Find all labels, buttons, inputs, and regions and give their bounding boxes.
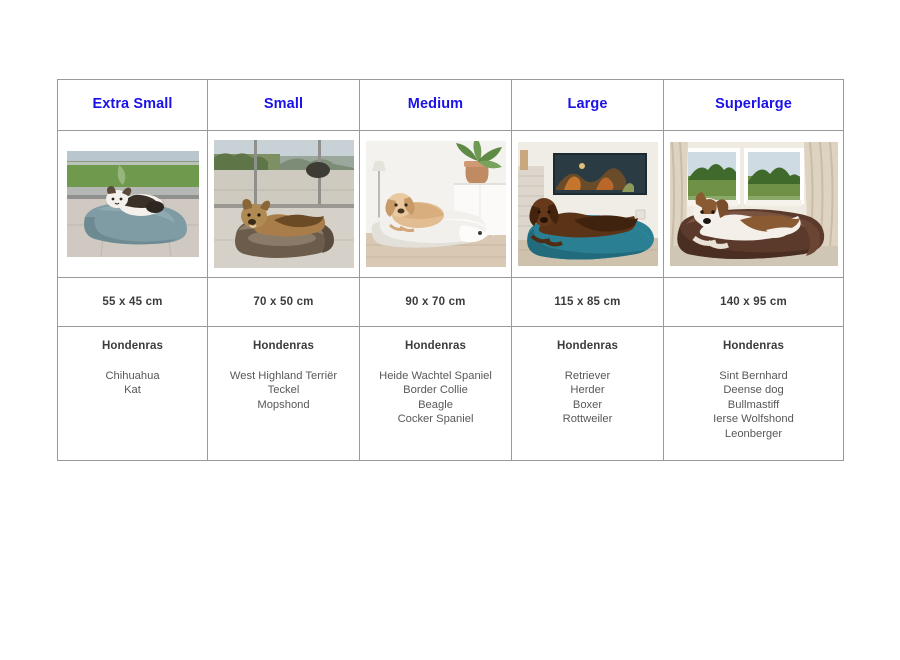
breed-item: Sint Bernhard (664, 369, 843, 384)
breed-block: Hondenras West Highland TerriërTeckelMop… (208, 327, 359, 412)
breed-list: West Highland TerriërTeckelMopshond (208, 369, 359, 413)
breed-item: Retriever (512, 369, 663, 384)
header-cell-extra-small: Extra Small (58, 80, 208, 131)
image-wrapper (664, 131, 843, 277)
dog-bed-photo-large (518, 142, 658, 266)
breed-item: Cocker Spaniel (360, 412, 511, 427)
breed-title: Hondenras (360, 341, 511, 353)
header-cell-large: Large (512, 80, 664, 131)
breed-item: Boxer (512, 398, 663, 413)
breeds-cell-large: Hondenras RetrieverHerderBoxerRottweiler (512, 327, 664, 461)
breed-block: Hondenras ChihuahuaKat (58, 327, 207, 398)
breed-item: Herder (512, 383, 663, 398)
breed-block: Hondenras Sint BernhardDeense dogBullmas… (664, 327, 843, 441)
breed-item: Rottweiler (512, 412, 663, 427)
breed-item: Kat (58, 383, 207, 398)
breed-item: Chihuahua (58, 369, 207, 384)
breed-item: Border Collie (360, 383, 511, 398)
image-cell-extra-small (58, 131, 208, 278)
breed-block: Hondenras RetrieverHerderBoxerRottweiler (512, 327, 663, 427)
breed-list: RetrieverHerderBoxerRottweiler (512, 369, 663, 427)
breed-item: Teckel (208, 383, 359, 398)
breed-item: Deense dog (664, 383, 843, 398)
dog-bed-photo-superlarge (670, 142, 838, 266)
page-root: Extra Small Small Medium Large Superlarg… (0, 0, 900, 660)
dimensions-cell-small: 70 x 50 cm (208, 278, 360, 327)
dimensions-cell-superlarge: 140 x 95 cm (664, 278, 844, 327)
breed-item: Beagle (360, 398, 511, 413)
header-cell-superlarge: Superlarge (664, 80, 844, 131)
breed-title: Hondenras (58, 341, 207, 353)
breed-list: Heide Wachtel SpanielBorder CollieBeagle… (360, 369, 511, 427)
dimensions-label: 90 x 70 cm (360, 296, 511, 308)
breed-item: Ierse Wolfshond (664, 412, 843, 427)
breed-item: Heide Wachtel Spaniel (360, 369, 511, 384)
breed-title: Hondenras (664, 341, 843, 353)
image-wrapper (512, 131, 663, 277)
image-wrapper (58, 131, 207, 277)
dog-bed-photo-extra-small (67, 151, 199, 257)
header-cell-small: Small (208, 80, 360, 131)
breeds-cell-small: Hondenras West Highland TerriërTeckelMop… (208, 327, 360, 461)
image-cell-large (512, 131, 664, 278)
breed-item: Mopshond (208, 398, 359, 413)
image-wrapper (360, 131, 511, 277)
image-cell-medium (360, 131, 512, 278)
table-dimensions-row: 55 x 45 cm 70 x 50 cm 90 x 70 cm 115 x 8… (58, 278, 844, 327)
dog-bed-photo-small (214, 140, 354, 268)
dimensions-label: 70 x 50 cm (208, 296, 359, 308)
dimensions-label: 115 x 85 cm (512, 296, 663, 308)
breeds-cell-medium: Hondenras Heide Wachtel SpanielBorder Co… (360, 327, 512, 461)
header-cell-medium: Medium (360, 80, 512, 131)
dog-bed-photo-medium (366, 141, 506, 267)
breed-title: Hondenras (512, 341, 663, 353)
breed-item: Bullmastiff (664, 398, 843, 413)
breed-title: Hondenras (208, 341, 359, 353)
breed-list: ChihuahuaKat (58, 369, 207, 398)
image-cell-superlarge (664, 131, 844, 278)
column-header-label: Extra Small (58, 97, 207, 113)
column-header-label: Large (512, 97, 663, 113)
breeds-cell-extra-small: Hondenras ChihuahuaKat (58, 327, 208, 461)
breed-list: Sint BernhardDeense dogBullmastiffIerse … (664, 369, 843, 442)
dimensions-cell-extra-small: 55 x 45 cm (58, 278, 208, 327)
dimensions-cell-large: 115 x 85 cm (512, 278, 664, 327)
breed-item: Leonberger (664, 427, 843, 442)
dimensions-label: 140 x 95 cm (664, 296, 843, 308)
table-breeds-row: Hondenras ChihuahuaKat Hondenras West Hi… (58, 327, 844, 461)
breeds-cell-superlarge: Hondenras Sint BernhardDeense dogBullmas… (664, 327, 844, 461)
table-image-row (58, 131, 844, 278)
breed-block: Hondenras Heide Wachtel SpanielBorder Co… (360, 327, 511, 427)
breed-item: West Highland Terriër (208, 369, 359, 384)
column-header-label: Superlarge (664, 97, 843, 113)
table-header-row: Extra Small Small Medium Large Superlarg… (58, 80, 844, 131)
dimensions-label: 55 x 45 cm (58, 296, 207, 308)
image-cell-small (208, 131, 360, 278)
column-header-label: Small (208, 97, 359, 113)
dog-bed-size-table: Extra Small Small Medium Large Superlarg… (57, 79, 844, 461)
column-header-label: Medium (360, 97, 511, 113)
image-wrapper (208, 131, 359, 277)
dimensions-cell-medium: 90 x 70 cm (360, 278, 512, 327)
